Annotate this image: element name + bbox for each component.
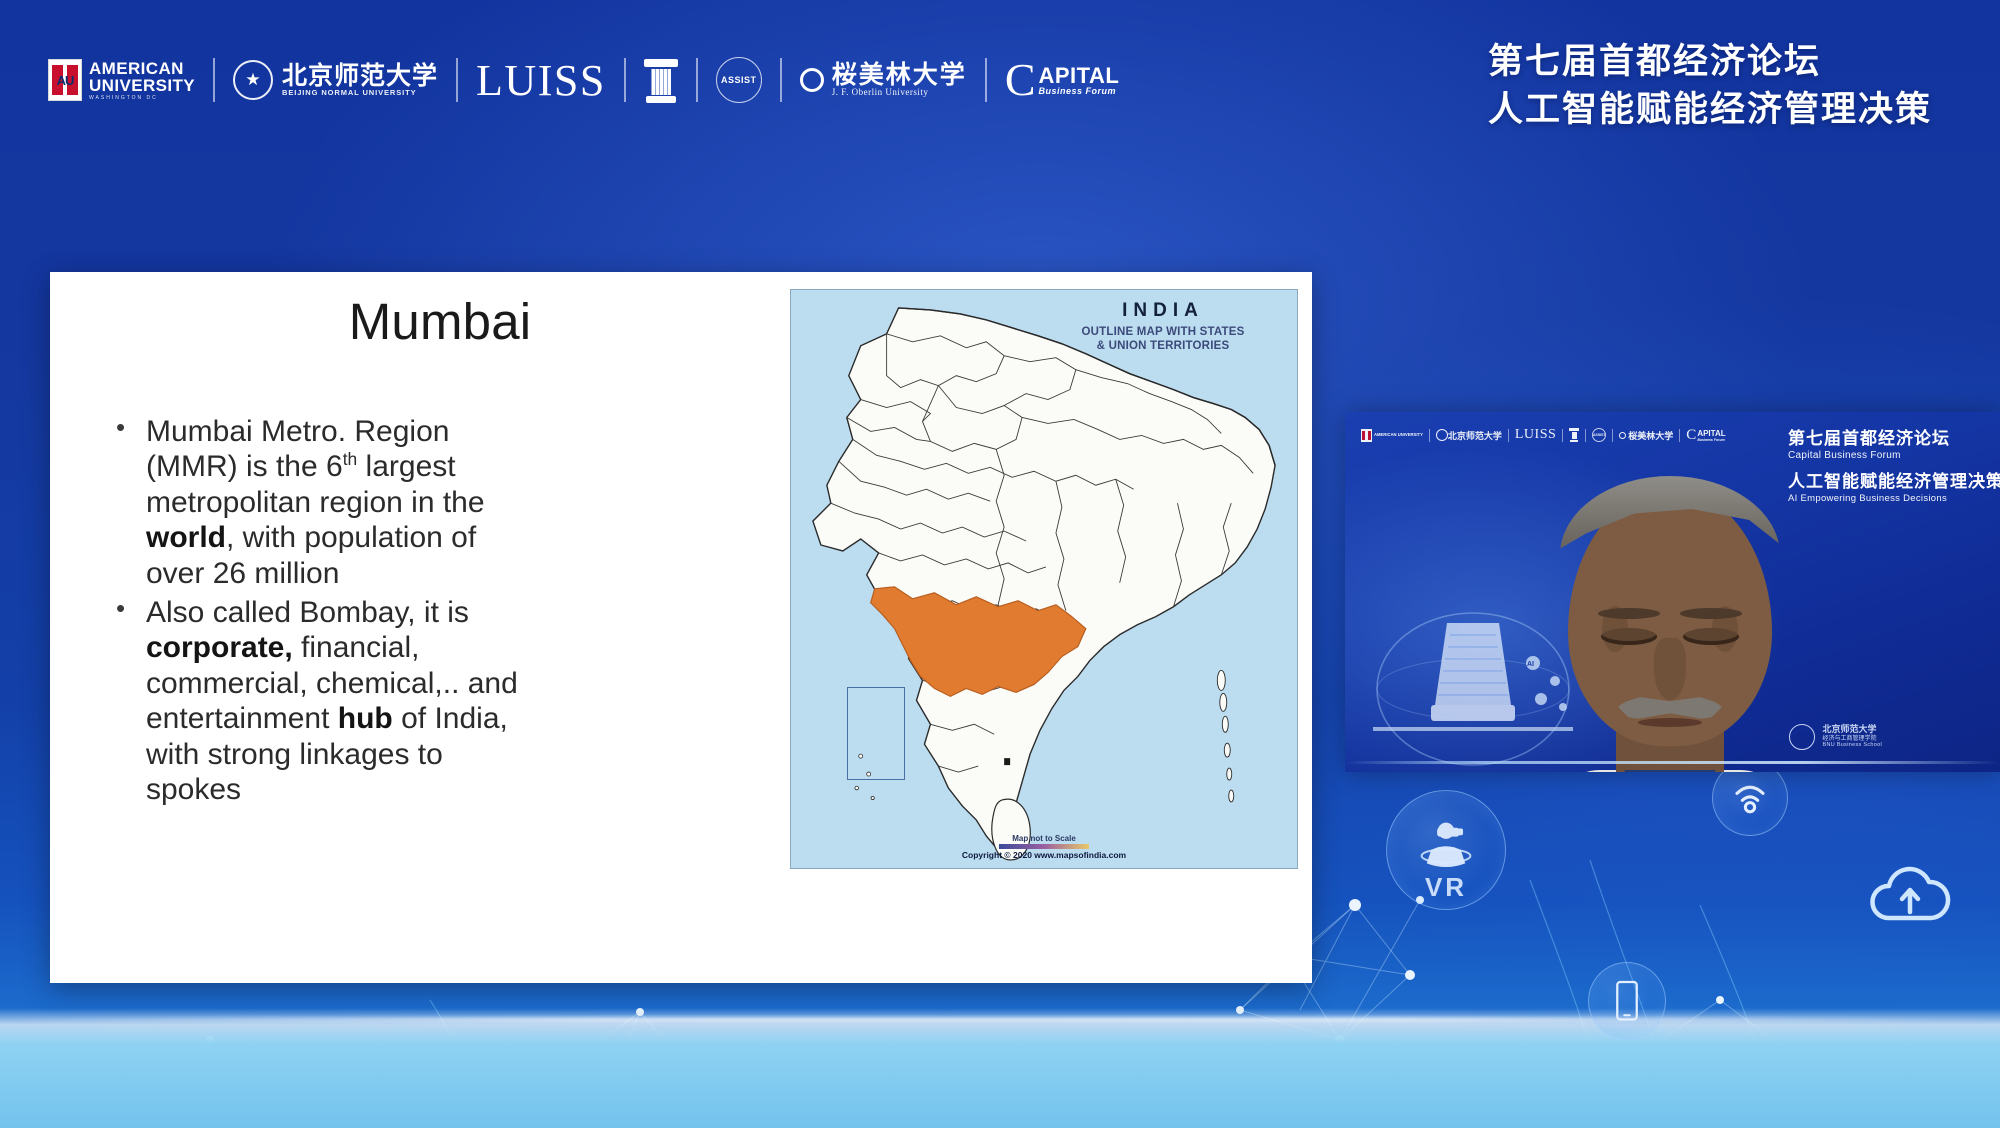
video-capital-c-glyph: C bbox=[1686, 429, 1696, 441]
map-subtitle-line2: & UNION TERRITORIES bbox=[1043, 339, 1283, 353]
map-color-bar bbox=[999, 844, 1089, 849]
logo-divider bbox=[780, 58, 782, 102]
map-copyright: Copyright © 2020 www.mapsofindia.com bbox=[791, 850, 1297, 860]
logo-american-university: AU AMERICAN UNIVERSITY WASHINGTON DC bbox=[48, 59, 195, 101]
video-title-en-line2: AI Empowering Business Decisions bbox=[1788, 493, 2000, 504]
video-capital-wordmark: APITAL bbox=[1697, 429, 1725, 438]
event-header: AU AMERICAN UNIVERSITY WASHINGTON DC ★ 北… bbox=[0, 0, 2000, 150]
video-logo-capital: C APITAL Business Forum bbox=[1686, 429, 1725, 442]
logo-luiss: LUISS bbox=[476, 55, 606, 106]
map-title: INDIA bbox=[1043, 300, 1283, 322]
video-title-cn-line1: 第七届首都经济论坛 bbox=[1788, 424, 2000, 449]
capital-wordmark: APITAL bbox=[1039, 64, 1120, 87]
video-luiss-wordmark: LUISS bbox=[1515, 427, 1556, 443]
logo-jf-oberlin-university: 桜美林大学 J. F. Oberlin University bbox=[800, 62, 967, 98]
au-name-line1: AMERICAN bbox=[89, 60, 195, 77]
american-university-shield-icon: AU bbox=[48, 59, 82, 101]
capital-subtitle: Business Forum bbox=[1039, 87, 1120, 96]
logo-divider bbox=[213, 58, 215, 102]
watermark-en: BNU Business School bbox=[1822, 742, 1882, 748]
oberlin-name-en: J. F. Oberlin University bbox=[832, 88, 967, 97]
map-caption: INDIA OUTLINE MAP WITH STATES & UNION TE… bbox=[1043, 300, 1283, 354]
au-name-line2: UNIVERSITY bbox=[89, 77, 195, 94]
logo-assist: ASSIST bbox=[716, 57, 762, 103]
video-au-shield-icon bbox=[1361, 429, 1372, 442]
video-title-cn-line2: 人工智能赋能经济管理决策 bbox=[1788, 467, 2000, 492]
logo-pillar-institute bbox=[644, 57, 678, 103]
video-logo-american-university: AMERICAN UNIVERSITY bbox=[1361, 429, 1423, 442]
video-event-title: 第七届首都经济论坛 Capital Business Forum 人工智能赋能经… bbox=[1788, 424, 2000, 504]
video-pillar-icon bbox=[1569, 428, 1579, 442]
au-monogram: AU bbox=[57, 73, 74, 88]
video-partner-logo-bar: AMERICAN UNIVERSITY 北京师范大学 LUISS ASSIST … bbox=[1361, 426, 1726, 444]
video-assist-icon: ASSIST bbox=[1592, 428, 1606, 442]
map-copyright-site: www.mapsofindia.com bbox=[1034, 850, 1126, 860]
logo-divider bbox=[456, 58, 458, 102]
india-map: INDIA OUTLINE MAP WITH STATES & UNION TE… bbox=[790, 289, 1298, 869]
video-logo-oberlin: 桜美林大学 bbox=[1619, 429, 1673, 442]
map-scale-note: Map not to Scale bbox=[791, 834, 1297, 843]
bnu-name-en: BEIJING NORMAL UNIVERSITY bbox=[282, 89, 438, 97]
logo-divider bbox=[696, 58, 698, 102]
india-map-graphic bbox=[791, 290, 1297, 868]
watermark-seal-icon bbox=[1789, 724, 1815, 750]
video-watermark: 北京师范大学 经济与工商管理学院 BNU Business School bbox=[1789, 724, 1882, 750]
capital-c-glyph: C bbox=[1005, 60, 1036, 99]
map-subtitle-line1: OUTLINE MAP WITH STATES bbox=[1043, 325, 1283, 339]
bullet-item-2: Also called Bombay, it is corporate, fin… bbox=[108, 595, 528, 807]
watermark-cn: 北京师范大学 bbox=[1822, 725, 1882, 735]
au-name-line3: WASHINGTON DC bbox=[89, 96, 195, 101]
map-footer: Map not to Scale Copyright © 2020 www.ma… bbox=[791, 834, 1297, 860]
video-bottom-rule bbox=[1345, 761, 2000, 764]
bullet-item-1: Mumbai Metro. Region (MMR) is the 6th la… bbox=[108, 414, 528, 591]
video-capital-subtitle: Business Forum bbox=[1697, 438, 1725, 442]
event-title-line1: 第七届首都经济论坛 bbox=[1488, 38, 1932, 86]
slide-bullet-list: Mumbai Metro. Region (MMR) is the 6th la… bbox=[108, 414, 528, 811]
logo-divider bbox=[985, 58, 987, 102]
oberlin-ring-icon bbox=[800, 68, 824, 92]
map-inset-box bbox=[847, 687, 905, 780]
video-oberlin-ring-icon bbox=[1619, 432, 1626, 439]
logo-divider bbox=[624, 58, 626, 102]
watermark-cn-sub: 经济与工商管理学院 bbox=[1822, 736, 1882, 743]
map-copyright-text: Copyright © 2020 bbox=[962, 850, 1034, 860]
speaker-video-tile[interactable]: AI AMERICAN UNIVERSITY 北京师范大学 LUISS AS bbox=[1345, 412, 2000, 772]
logo-capital-business-forum: C APITAL Business Forum bbox=[1005, 60, 1120, 99]
logo-beijing-normal-university: ★ 北京师范大学 BEIJING NORMAL UNIVERSITY bbox=[233, 60, 438, 100]
partner-logo-bar: AU AMERICAN UNIVERSITY WASHINGTON DC ★ 北… bbox=[48, 50, 1119, 110]
video-title-en-line1: Capital Business Forum bbox=[1788, 450, 2000, 461]
bullet-1-text: Mumbai Metro. Region (MMR) is the 6th la… bbox=[146, 415, 485, 590]
video-au-name: AMERICAN UNIVERSITY bbox=[1374, 433, 1423, 437]
luiss-wordmark: LUISS bbox=[476, 55, 606, 106]
bnu-name-cn: 北京师范大学 bbox=[282, 63, 438, 89]
speaker-avatar bbox=[1520, 470, 1820, 772]
bullet-2-text: Also called Bombay, it is corporate, fin… bbox=[146, 596, 518, 806]
video-bnu-name-cn: 北京师范大学 bbox=[1448, 429, 1502, 442]
event-title-line2: 人工智能赋能经济管理决策 bbox=[1488, 86, 1932, 134]
assist-circle-icon: ASSIST bbox=[716, 57, 762, 103]
video-bnu-seal-icon bbox=[1436, 429, 1448, 441]
oberlin-name-cn: 桜美林大学 bbox=[832, 62, 967, 88]
bottom-light-band bbox=[0, 1008, 2000, 1128]
video-oberlin-name-cn: 桜美林大学 bbox=[1628, 429, 1673, 442]
pillar-icon bbox=[644, 57, 678, 103]
bnu-seal-icon: ★ bbox=[233, 60, 273, 100]
event-title-chinese: 第七届首都经济论坛 人工智能赋能经济管理决策 bbox=[1488, 38, 1932, 135]
presentation-slide[interactable]: Mumbai Mumbai Metro. Region (MMR) is the… bbox=[50, 272, 1312, 983]
slide-title: Mumbai bbox=[50, 292, 830, 351]
